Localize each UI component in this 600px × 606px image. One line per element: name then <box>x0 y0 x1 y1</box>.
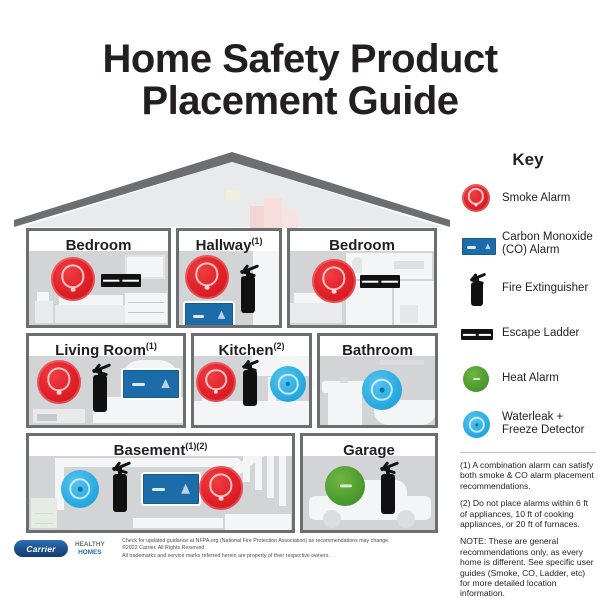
key-item-label: Carbon Monoxide (CO) Alarm <box>502 231 596 258</box>
main-floor: Living Room(1) Kitchen(2) <box>26 333 438 428</box>
co-alarm-icon <box>183 301 235 328</box>
page-title: Home Safety Product Placement Guide <box>0 38 600 123</box>
divider <box>460 452 596 453</box>
healthy-homes-logo: HEALTHY HOMES <box>75 541 105 555</box>
carrier-logo: Carrier <box>14 540 68 557</box>
room-hallway: Hallway(1) <box>176 228 282 328</box>
escape-ladder-icon <box>360 275 400 288</box>
fine-print-line-2: ©2022 Carrier. All Rights Reserved. <box>122 545 390 552</box>
waterleak-freeze-detector-icon <box>463 411 490 438</box>
fire-extinguisher-icon <box>87 362 113 412</box>
room-label: Living Room(1) <box>29 336 183 356</box>
smoke-alarm-icon <box>199 466 243 510</box>
fine-print: Check for updated guidance at NFPA.org (… <box>122 538 390 560</box>
roof-icon <box>12 150 452 228</box>
smoke-alarm-icon <box>37 360 81 404</box>
room-garage: Garage <box>300 433 438 533</box>
logo-group: Carrier HEALTHY HOMES <box>14 540 105 557</box>
house-diagram: Bedroom Hallway(1) <box>12 150 452 530</box>
smoke-alarm-icon <box>185 255 229 299</box>
escape-ladder-icon <box>461 329 493 340</box>
title-line-1: Home Safety Product <box>102 37 497 81</box>
key-item-label: Waterleak + Freeze Detector <box>502 411 596 438</box>
key-item-waterleak-detector: Waterleak + Freeze Detector <box>460 407 596 441</box>
key-panel: Key Smoke Alarm Carbon Monoxide (CO) Ala… <box>460 150 596 606</box>
upper-floor: Bedroom Hallway(1) <box>26 228 438 328</box>
co-alarm-icon <box>141 472 201 506</box>
footnote-note: NOTE: These are general recommendations … <box>460 536 596 598</box>
infographic-page: Home Safety Product Placement Guide Bedr… <box>0 0 600 600</box>
key-item-co-alarm: Carbon Monoxide (CO) Alarm <box>460 227 596 261</box>
key-item-escape-ladder: Escape Ladder <box>460 317 596 351</box>
key-item-label: Heat Alarm <box>502 372 559 386</box>
room-basement: Basement(1)(2) <box>26 433 295 533</box>
room-label: Basement(1)(2) <box>29 436 292 456</box>
key-item-label: Fire Extinguisher <box>502 282 588 296</box>
healthy-homes-line-1: HEALTHY <box>75 541 105 548</box>
lower-floor: Basement(1)(2) <box>26 433 438 533</box>
room-living-room: Living Room(1) <box>26 333 186 428</box>
title-line-2: Placement Guide <box>0 80 600 122</box>
fire-extinguisher-icon <box>466 273 488 306</box>
smoke-alarm-icon <box>196 362 236 402</box>
key-item-smoke-alarm: Smoke Alarm <box>460 182 596 216</box>
fire-extinguisher-icon <box>238 358 262 406</box>
key-heading: Key <box>460 150 596 170</box>
fire-extinguisher-icon <box>375 460 401 514</box>
room-bedroom-right: Bedroom <box>287 228 437 328</box>
room-bedroom-left: Bedroom <box>26 228 171 328</box>
key-item-fire-extinguisher: Fire Extinguisher <box>460 272 596 306</box>
room-label: Bathroom <box>320 336 435 356</box>
co-alarm-icon <box>121 368 181 400</box>
heat-alarm-icon <box>325 466 365 506</box>
footnote-2: (2) Do not place alarms within 6 ft of a… <box>460 498 596 529</box>
key-item-label: Smoke Alarm <box>502 192 570 206</box>
footnote-1: (1) A combination alarm can satisfy both… <box>460 460 596 491</box>
room-label: Garage <box>303 436 435 456</box>
room-label: Bedroom <box>290 231 434 251</box>
smoke-alarm-icon <box>312 259 356 303</box>
waterleak-freeze-detector-icon <box>362 370 402 410</box>
room-label: Kitchen(2) <box>194 336 309 356</box>
room-label: Bedroom <box>29 231 168 251</box>
healthy-homes-line-2: HOMES <box>75 549 105 556</box>
waterleak-freeze-detector-icon <box>61 470 99 508</box>
room-bathroom: Bathroom <box>317 333 438 428</box>
key-item-label: Escape Ladder <box>502 327 579 341</box>
key-item-heat-alarm: Heat Alarm <box>460 362 596 396</box>
smoke-alarm-icon <box>462 184 490 212</box>
escape-ladder-icon <box>101 274 141 287</box>
co-alarm-icon <box>460 236 498 257</box>
room-label: Hallway(1) <box>179 231 279 251</box>
room-kitchen: Kitchen(2) <box>191 333 312 428</box>
heat-alarm-icon <box>463 366 489 392</box>
waterleak-freeze-detector-icon <box>270 366 306 402</box>
fire-extinguisher-icon <box>107 460 133 512</box>
fire-extinguisher-icon <box>235 263 261 313</box>
fine-print-line-3: All trademarks and service marks referre… <box>122 553 390 560</box>
smoke-alarm-icon <box>51 257 95 301</box>
